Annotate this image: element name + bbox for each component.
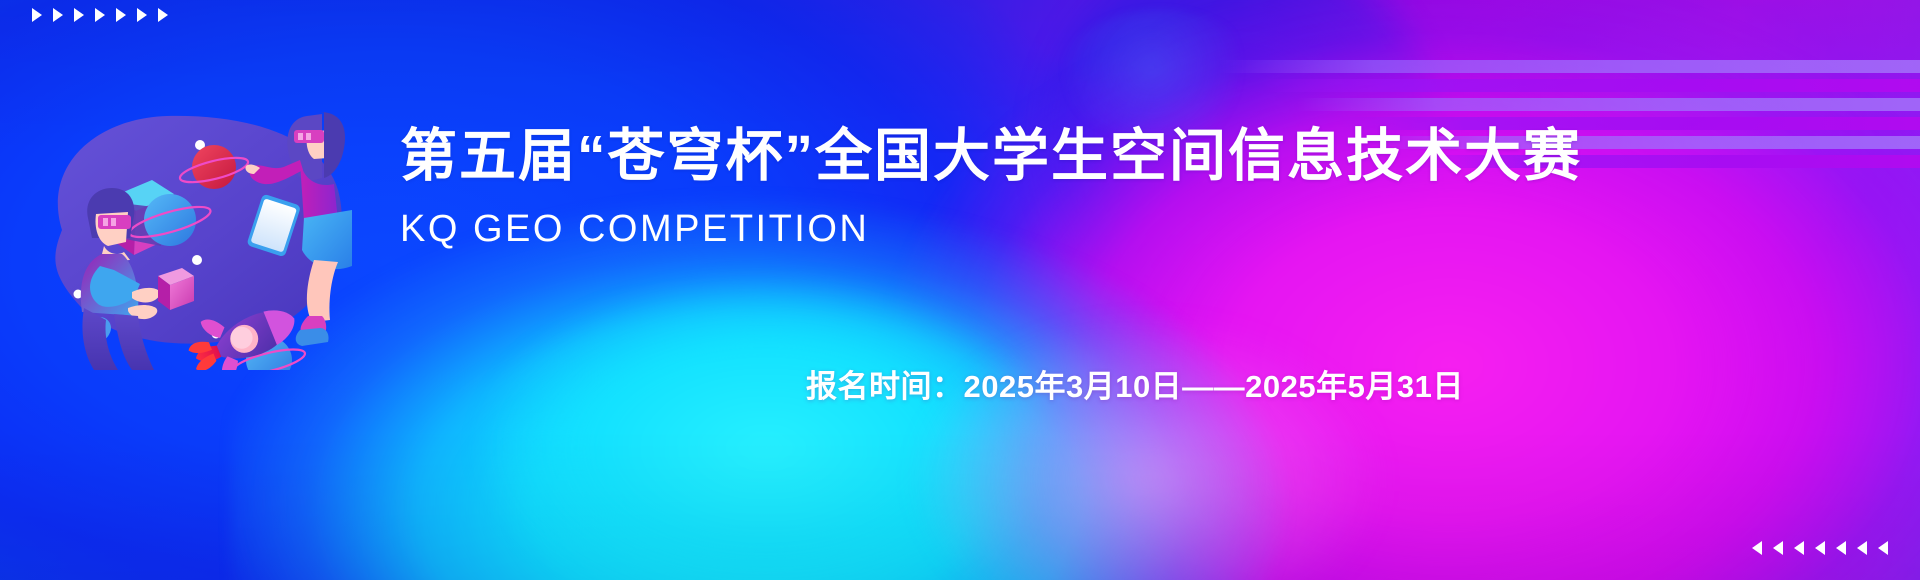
stripe-light-2: [1298, 98, 1920, 111]
arrow-row-bottom-right: [1752, 541, 1888, 555]
title-block: 第五届“苍穹杯”全国大学生空间信息技术大赛 KQ GEO COMPETITION: [400, 126, 1582, 251]
play-left-icon: [1794, 541, 1804, 555]
stripe-bright-1: [1260, 79, 1920, 92]
stripe-light-1: [1220, 60, 1920, 73]
illustration-svg: [22, 70, 352, 370]
play-left-icon: [1857, 541, 1867, 555]
play-left-icon: [1752, 541, 1762, 555]
competition-banner: 第五届“苍穹杯”全国大学生空间信息技术大赛 KQ GEO COMPETITION…: [0, 0, 1920, 580]
play-right-icon: [137, 8, 147, 22]
play-right-icon: [74, 8, 84, 22]
play-right-icon: [32, 8, 42, 22]
play-left-icon: [1836, 541, 1846, 555]
star-dot: [192, 255, 202, 265]
play-right-icon: [53, 8, 63, 22]
arrow-row-top-left: [32, 8, 168, 22]
hero-illustration: [22, 70, 352, 370]
banner-title-english: KQ GEO COMPETITION: [400, 208, 1582, 251]
play-left-icon: [1773, 541, 1783, 555]
play-left-icon: [1878, 541, 1888, 555]
banner-title-chinese: 第五届“苍穹杯”全国大学生空间信息技术大赛: [400, 126, 1582, 186]
play-right-icon: [158, 8, 168, 22]
play-right-icon: [116, 8, 126, 22]
play-right-icon: [95, 8, 105, 22]
play-left-icon: [1815, 541, 1825, 555]
registration-period-text: 报名时间：2025年3月10日——2025年5月31日: [806, 361, 1464, 406]
